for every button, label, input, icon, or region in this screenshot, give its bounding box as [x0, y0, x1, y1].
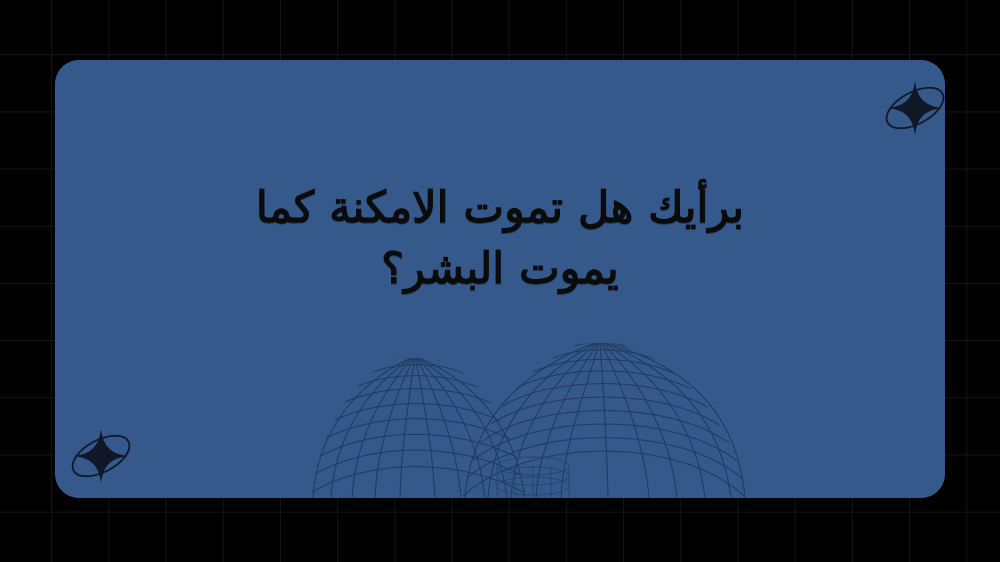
- sparkle-ellipse-icon: [65, 420, 137, 492]
- wireframe-dome-artwork: [55, 338, 945, 498]
- content-card: برأيك هل تموت الامكنة كما يموت البشر؟: [55, 60, 945, 498]
- headline-text: برأيك هل تموت الامكنة كما يموت البشر؟: [115, 178, 885, 300]
- slide-canvas: برأيك هل تموت الامكنة كما يموت البشر؟: [0, 0, 1000, 562]
- headline-line-2: يموت البشر؟: [115, 239, 885, 300]
- headline-line-1: برأيك هل تموت الامكنة كما: [115, 178, 885, 239]
- sparkle-ellipse-icon: [879, 72, 945, 144]
